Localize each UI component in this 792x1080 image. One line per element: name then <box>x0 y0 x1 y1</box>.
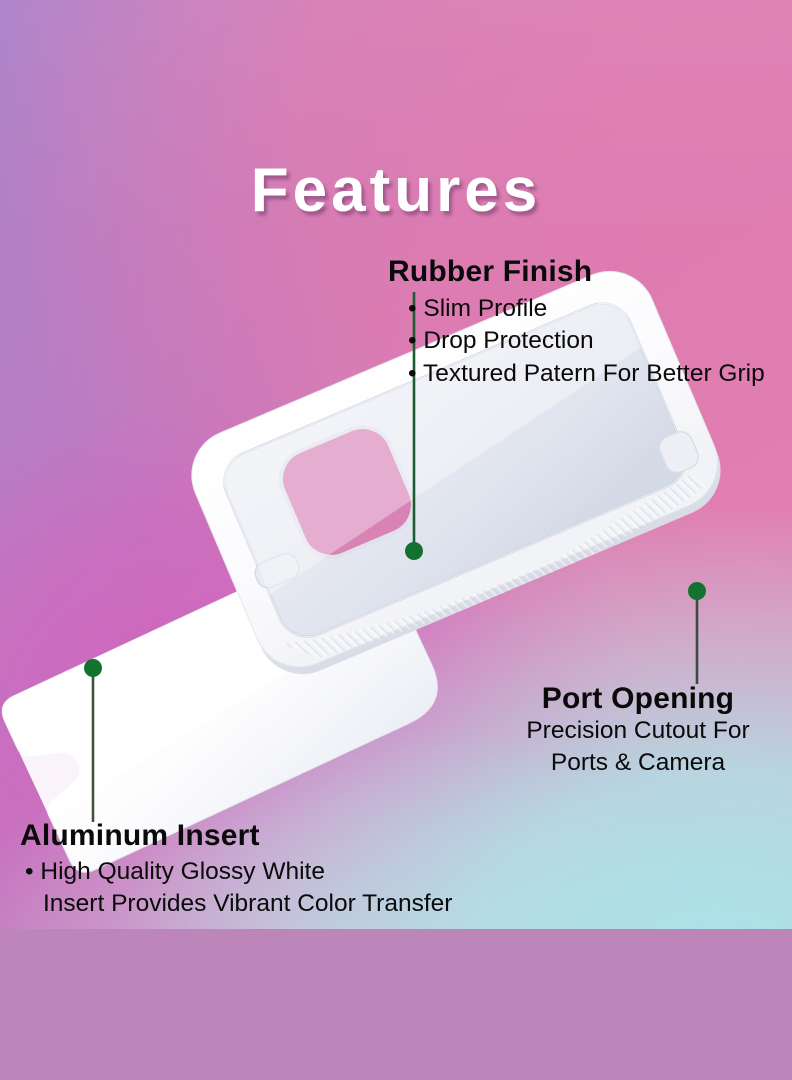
leader-port-opening <box>688 582 706 684</box>
product-illustration <box>0 0 792 929</box>
feature-heading-rubber-finish: Rubber Finish <box>388 256 765 288</box>
feature-block-rubber-finish: Rubber Finish • Slim Profile • Drop Prot… <box>388 256 765 391</box>
feature-line: Insert Provides Vibrant Color Transfer <box>43 888 452 921</box>
feature-line-list-aluminum-insert: • High Quality Glossy White Insert Provi… <box>25 856 452 922</box>
feature-block-aluminum-insert: Aluminum Insert • High Quality Glossy Wh… <box>20 820 452 921</box>
feature-bullet-list-rubber-finish: • Slim Profile • Drop Protection • Textu… <box>408 293 765 391</box>
feature-heading-aluminum-insert: Aluminum Insert <box>20 820 452 852</box>
bottom-color-band <box>0 929 792 1080</box>
feature-heading-port-opening: Port Opening <box>492 683 784 715</box>
feature-bullet: • Textured Patern For Better Grip <box>408 358 765 391</box>
feature-block-port-opening: Port Opening Precision Cutout For Ports … <box>492 683 784 780</box>
feature-bullet: • Drop Protection <box>408 325 765 358</box>
feature-line: Ports & Camera <box>492 747 784 780</box>
page-title: Features <box>0 160 792 222</box>
image-canvas: Features Rubber Finish • Slim Profile • … <box>0 0 792 929</box>
feature-bullet: • High Quality Glossy White <box>25 856 452 889</box>
feature-bullet: • Slim Profile <box>408 293 765 326</box>
feature-line: Precision Cutout For <box>492 715 784 748</box>
infographic-page: Features Rubber Finish • Slim Profile • … <box>0 0 792 1080</box>
